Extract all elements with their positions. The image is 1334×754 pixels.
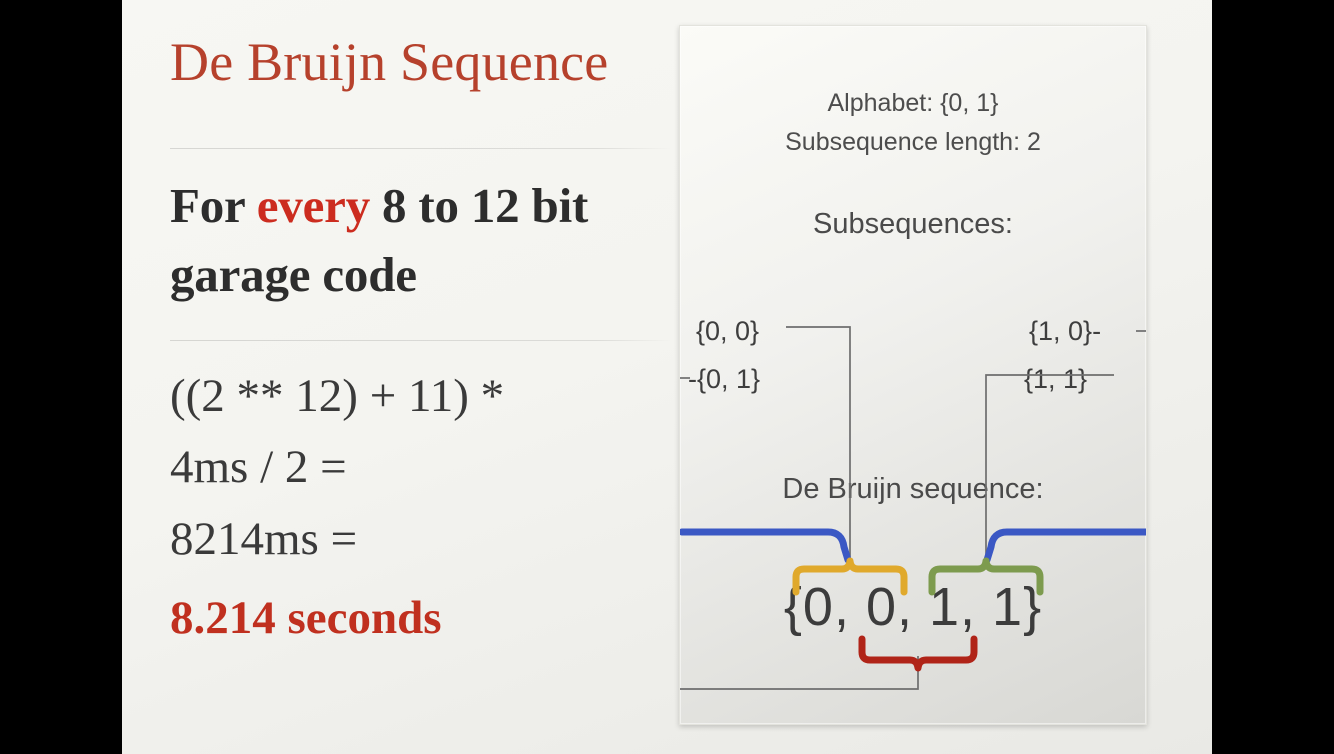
page-title: De Bruijn Sequence	[170, 34, 690, 91]
letterbox-bar-right	[1212, 0, 1334, 754]
brace-blue-left	[682, 532, 848, 560]
divider-bottom	[170, 340, 672, 341]
brace-yellow-00	[796, 561, 904, 592]
headline-accent: every	[257, 178, 370, 233]
headline-before: For	[170, 178, 257, 233]
brace-blue-right	[987, 532, 1146, 560]
video-frame: De Bruijn Sequence For every 8 to 12 bit…	[0, 0, 1334, 754]
calculation-line-2: 4ms / 2 =	[170, 432, 690, 503]
wire-00	[786, 327, 850, 562]
connector-diagram	[680, 26, 1147, 725]
letterbox-bar-left	[0, 0, 122, 754]
divider-top	[170, 148, 672, 149]
calculation-block: ((2 ** 12) + 11) * 4ms / 2 = 8214ms = 8.…	[170, 361, 690, 655]
de-bruijn-diagram-panel: Alphabet: {0, 1} Subsequence length: 2 S…	[679, 25, 1147, 725]
headline-text: For every 8 to 12 bit garage code	[170, 171, 690, 310]
calculation-line-1: ((2 ** 12) + 11) *	[170, 361, 690, 432]
slide-left-column: De Bruijn Sequence For every 8 to 12 bit…	[170, 34, 690, 724]
calculation-result: 8.214 seconds	[170, 583, 690, 654]
brace-green-11	[932, 561, 1040, 592]
slide-surface: De Bruijn Sequence For every 8 to 12 bit…	[122, 0, 1212, 754]
brace-red-01	[862, 639, 974, 668]
calculation-line-3: 8214ms =	[170, 504, 690, 575]
